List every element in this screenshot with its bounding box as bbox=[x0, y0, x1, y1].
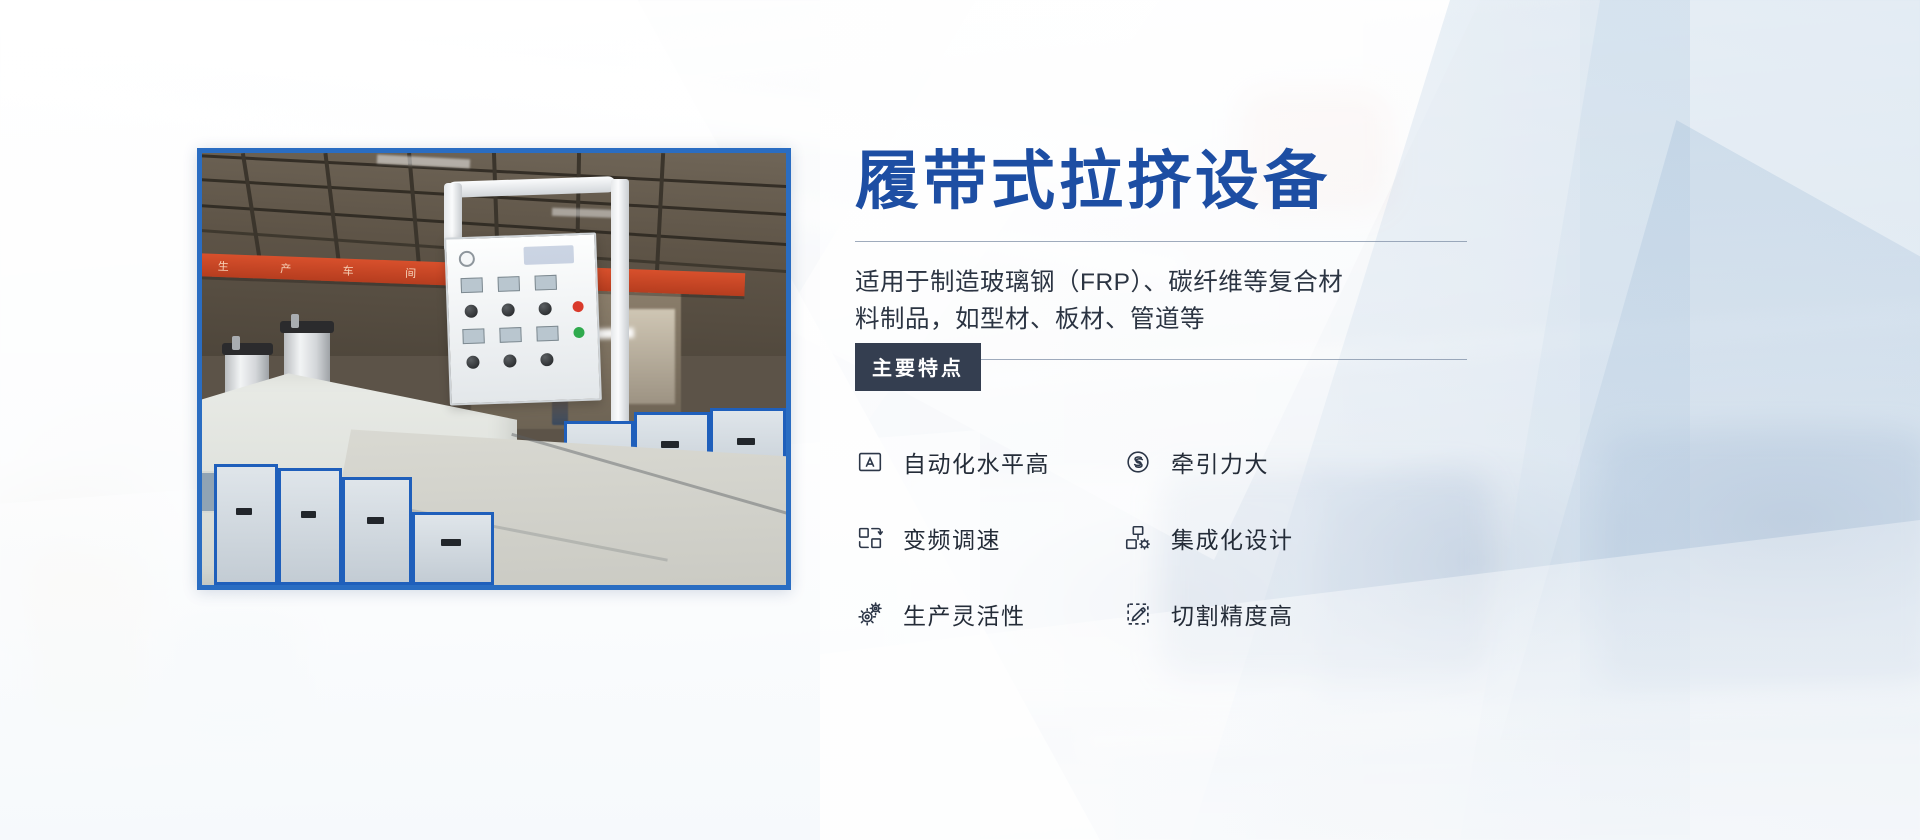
page-title: 履带式拉挤设备 bbox=[855, 148, 1475, 215]
feature-list: 自动化水平高 牵引力大 bbox=[855, 445, 1475, 631]
feature-label: 生产灵活性 bbox=[903, 597, 1026, 631]
description-line-1: 适用于制造玻璃钢（FRP）、碳纤维等复合材 bbox=[855, 269, 1343, 296]
banner-content: 履带式拉挤设备 适用于制造玻璃钢（FRP）、碳纤维等复合材 料制品，如型材、板材… bbox=[855, 148, 1475, 631]
feature-item-traction[interactable]: 牵引力大 bbox=[1123, 445, 1375, 479]
panel-indicator-lamp bbox=[573, 301, 584, 312]
panel-knob bbox=[465, 304, 478, 317]
cabinet-handle bbox=[661, 441, 679, 448]
cabinet-handle bbox=[301, 511, 316, 518]
dashed-square-pen-icon bbox=[1123, 599, 1153, 629]
feature-item-automation[interactable]: 自动化水平高 bbox=[855, 445, 1107, 479]
panel-meter bbox=[498, 277, 521, 293]
feature-label: 自动化水平高 bbox=[903, 445, 1050, 479]
product-banner: 生 产 车 间 bbox=[0, 0, 1920, 840]
panel-knob bbox=[541, 353, 554, 366]
equipment-cabinet bbox=[278, 468, 342, 585]
panel-gauge bbox=[459, 250, 476, 267]
feature-item-cutting-precision[interactable]: 切割精度高 bbox=[1123, 597, 1375, 631]
equipment-cabinet bbox=[342, 477, 412, 585]
panel-knob bbox=[467, 355, 480, 368]
gears-icon bbox=[855, 599, 885, 629]
background-blob bbox=[1600, 430, 1920, 690]
feature-label: 切割精度高 bbox=[1171, 597, 1294, 631]
panel-logo bbox=[524, 245, 575, 265]
feature-item-integrated-design[interactable]: 集成化设计 bbox=[1123, 521, 1375, 555]
status-badge: 主要特点 bbox=[855, 343, 981, 391]
description-line-2: 料制品，如型材、板材、管道等 bbox=[855, 306, 1205, 333]
control-panel bbox=[444, 232, 602, 406]
feature-label: 集成化设计 bbox=[1171, 521, 1294, 555]
two-squares-arrow-icon bbox=[855, 523, 885, 553]
feature-label: 牵引力大 bbox=[1171, 445, 1269, 479]
panel-knob bbox=[539, 302, 552, 315]
circle-wave-icon bbox=[1123, 447, 1153, 477]
panel-meter bbox=[535, 275, 558, 291]
panel-meter bbox=[463, 329, 486, 345]
factory-doorway bbox=[622, 309, 675, 404]
panel-meter bbox=[461, 278, 484, 294]
cabinet-handle bbox=[236, 508, 251, 515]
divider-top bbox=[855, 241, 1467, 242]
background-blob bbox=[170, 610, 300, 740]
modules-gear-icon bbox=[1123, 523, 1153, 553]
cabinet-handle bbox=[441, 539, 461, 546]
panel-knob bbox=[502, 303, 515, 316]
product-photo: 生 产 车 间 bbox=[197, 148, 791, 590]
panel-meter bbox=[537, 326, 560, 342]
equipment-cabinet bbox=[214, 464, 278, 585]
panel-meter bbox=[500, 328, 523, 344]
cabinet-handle bbox=[367, 517, 384, 524]
product-photo-image: 生 产 车 间 bbox=[202, 153, 786, 585]
feature-item-frequency-control[interactable]: 变频调速 bbox=[855, 521, 1107, 555]
panel-indicator-lamp bbox=[574, 327, 585, 338]
equipment-cabinet bbox=[412, 512, 494, 585]
feature-label: 变频调速 bbox=[903, 521, 1001, 555]
feature-item-flexibility[interactable]: 生产灵活性 bbox=[855, 597, 1107, 631]
panel-knob bbox=[504, 354, 517, 367]
crane-beam-text: 生 产 车 间 bbox=[218, 258, 441, 282]
background-blob bbox=[30, 560, 150, 730]
cabinet-handle bbox=[737, 438, 755, 445]
product-description: 适用于制造玻璃钢（FRP）、碳纤维等复合材 料制品，如型材、板材、管道等 bbox=[855, 264, 1455, 338]
framed-letter-a-icon bbox=[855, 447, 885, 477]
